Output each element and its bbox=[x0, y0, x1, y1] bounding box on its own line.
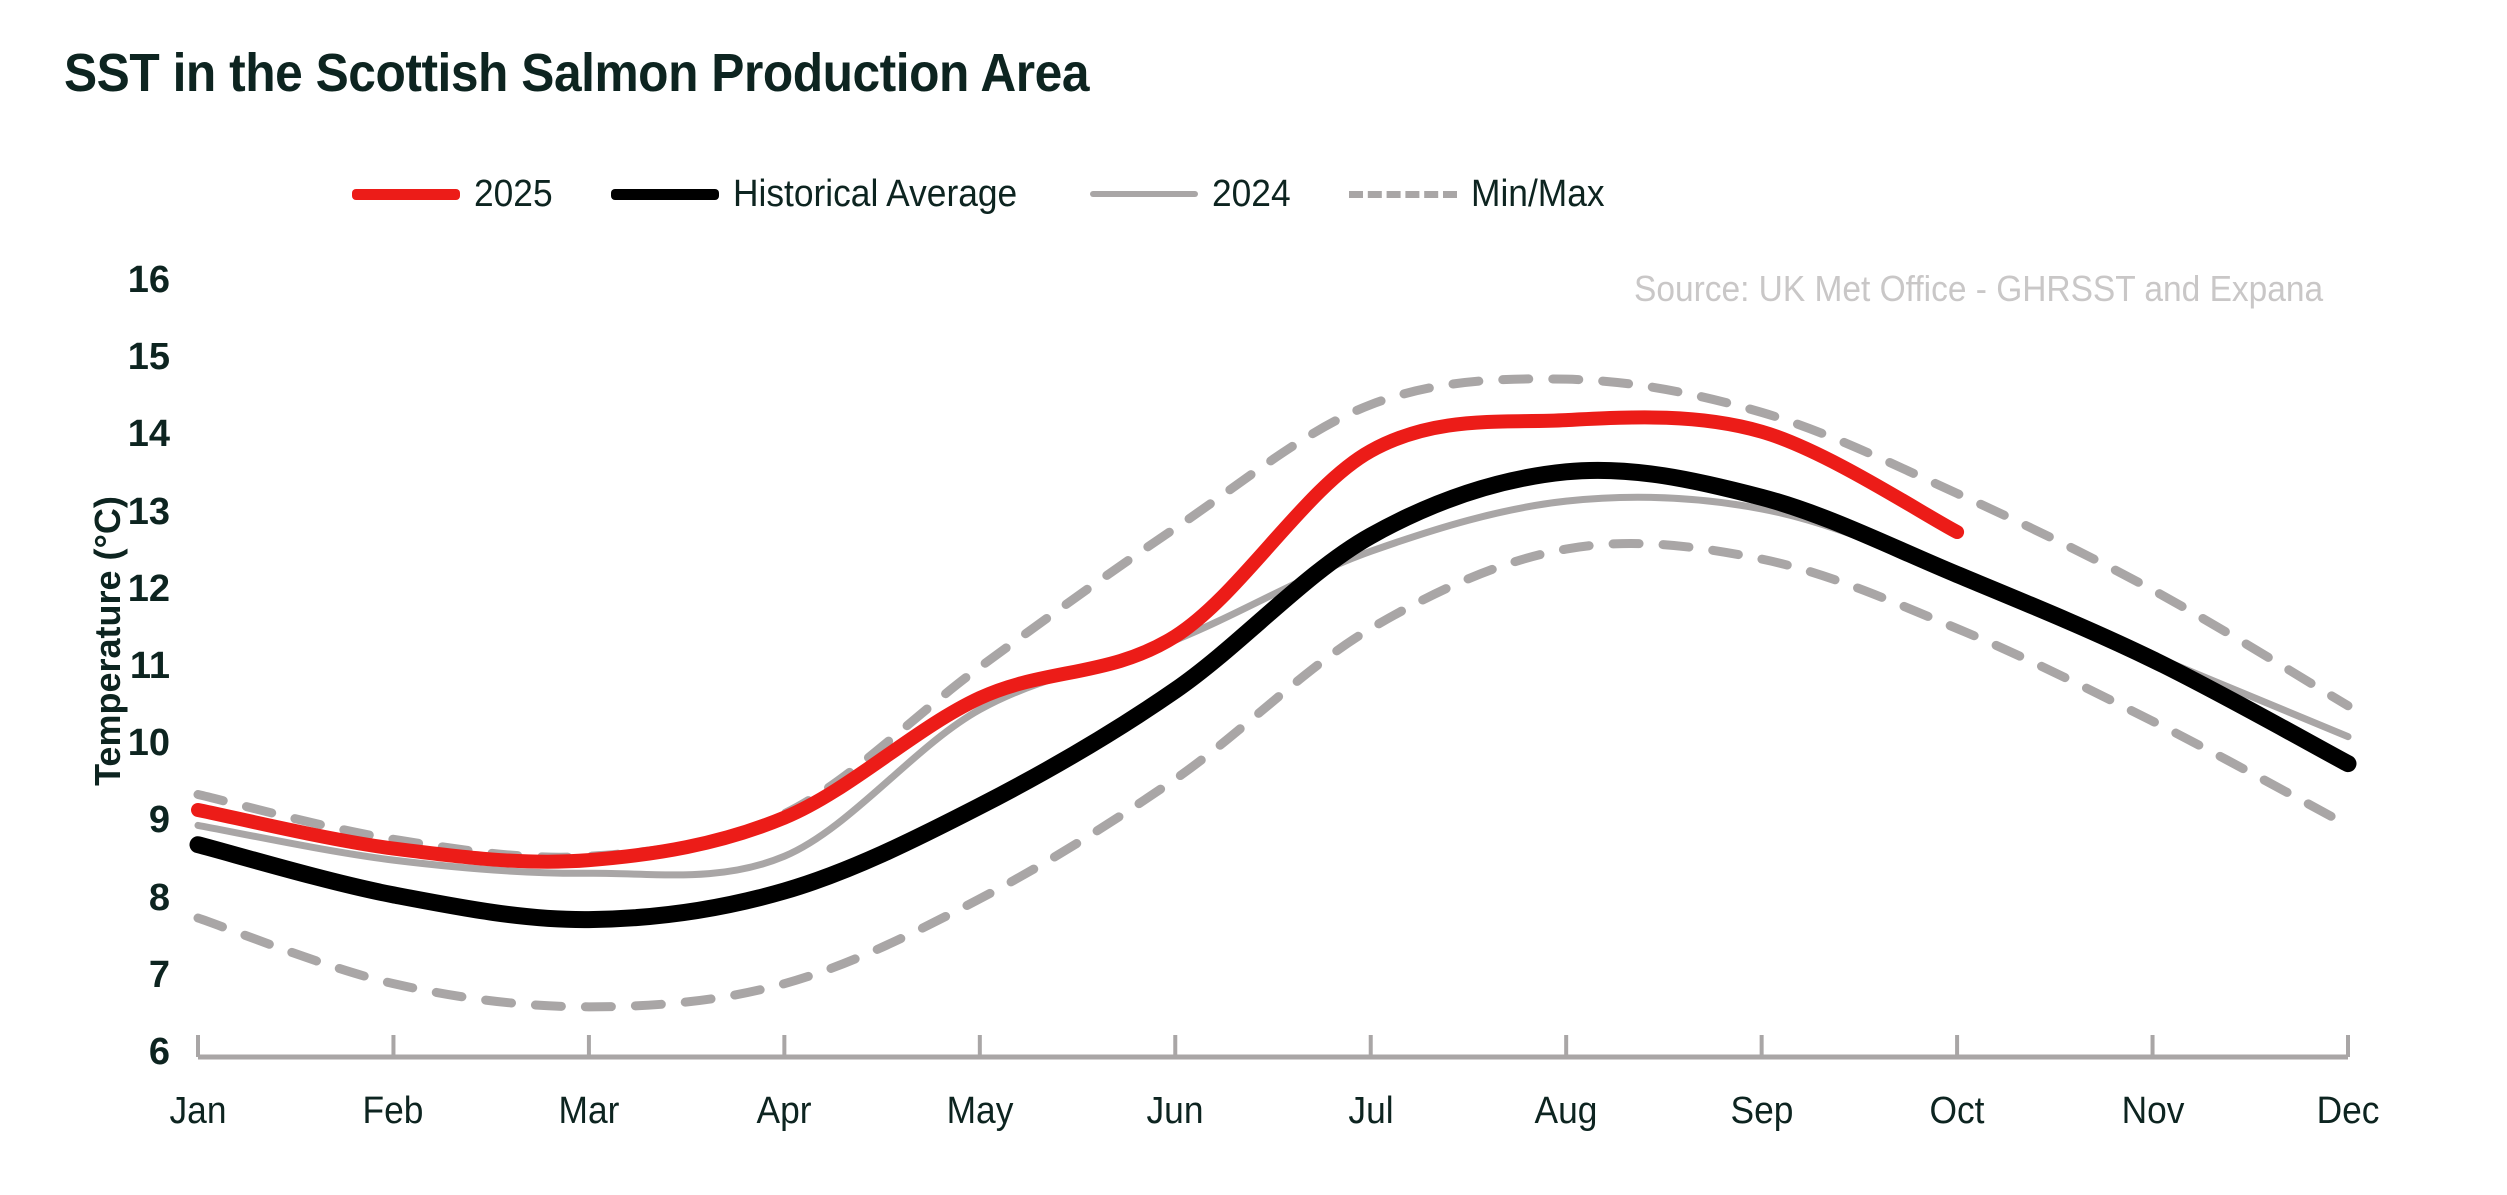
plot-area: Temperature (°C) 161514131211109876 JanF… bbox=[0, 0, 2507, 1195]
chart-page: SST in the Scottish Salmon Production Ar… bbox=[0, 0, 2507, 1195]
series-line-2024 bbox=[198, 497, 2348, 875]
chart-canvas bbox=[0, 0, 2507, 1195]
